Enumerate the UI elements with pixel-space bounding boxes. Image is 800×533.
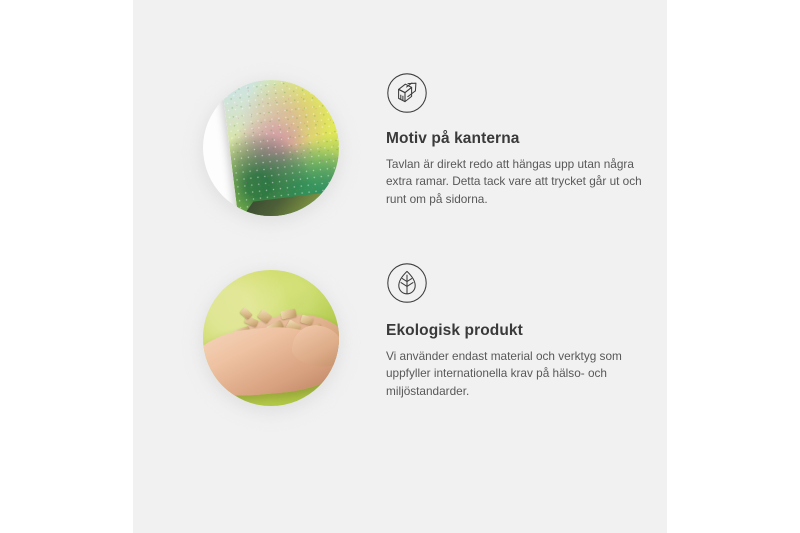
feature-copy-block: Ekologisk produkt Vi använder endast mat… (386, 262, 664, 400)
feature-description: Vi använder endast material och verktyg … (386, 348, 648, 400)
feature-description: Tavlan är direkt redo att hängas upp uta… (386, 156, 648, 208)
circular-image-mask (203, 270, 339, 406)
circular-image-mask (203, 80, 339, 216)
feature-row-motiv-pa-kanterna: Motiv på kanterna Tavlan är direkt redo … (133, 72, 667, 262)
product-feature-banner: Motiv på kanterna Tavlan är direkt redo … (0, 0, 800, 533)
feature-title: Motiv på kanterna (386, 130, 664, 149)
feature-image-canvas-print (195, 72, 345, 222)
feature-copy-block: Motiv på kanterna Tavlan är direkt redo … (386, 72, 664, 208)
feature-row-ekologisk-produkt: Ekologisk produkt Vi använder endast mat… (133, 262, 667, 452)
feature-image-wood-chips (195, 262, 345, 412)
feature-title: Ekologisk produkt (386, 322, 664, 341)
canvas-print-artwork (220, 80, 339, 216)
leaf-icon (386, 262, 428, 304)
canvas-wrapped-edges-icon (386, 72, 428, 114)
content-panel: Motiv på kanterna Tavlan är direkt redo … (133, 0, 667, 533)
